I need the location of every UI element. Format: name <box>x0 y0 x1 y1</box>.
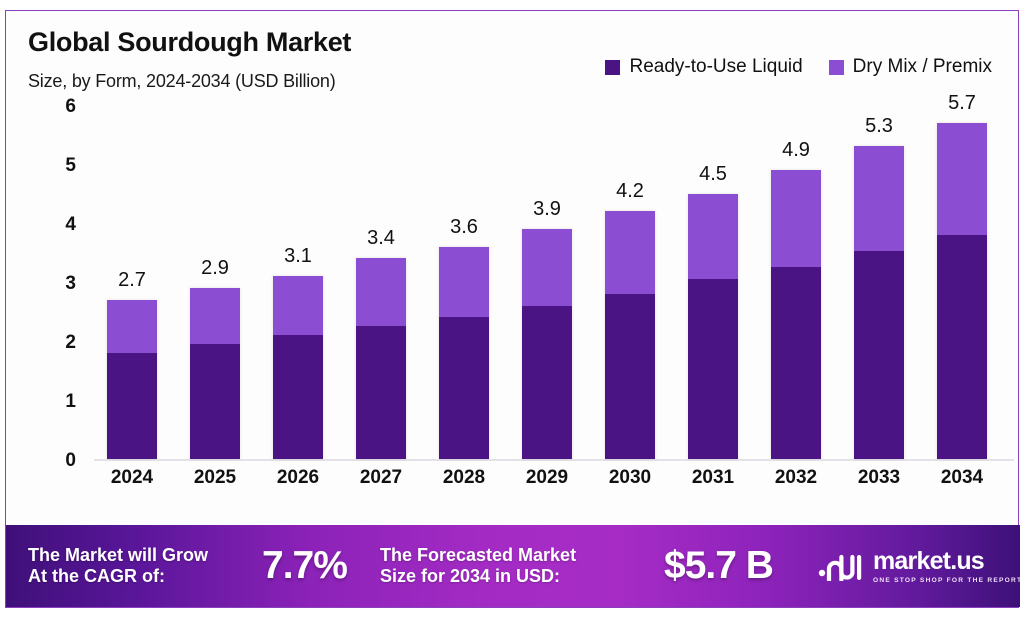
y-axis-tick: 2 <box>65 332 76 354</box>
stacked-bar[interactable] <box>688 194 738 460</box>
bar-segment-dry-mix[interactable] <box>937 123 987 235</box>
y-axis-tick: 5 <box>65 155 76 177</box>
chart-subtitle: Size, by Form, 2024-2034 (USD Billion) <box>28 71 336 92</box>
x-axis-tick: 2028 <box>424 467 504 489</box>
bar-group[interactable]: 5.3 <box>854 146 904 459</box>
y-axis: 0123456 <box>6 107 94 461</box>
brand-name: market.us <box>873 549 1020 574</box>
cagr-label: The Market will Grow At the CAGR of: <box>28 545 208 587</box>
y-axis-tick: 1 <box>65 391 76 413</box>
bar-segment-ready-to-use-liquid[interactable] <box>273 335 323 459</box>
bar-value-label: 4.5 <box>673 163 753 186</box>
stacked-bar[interactable] <box>107 300 157 459</box>
bar-group[interactable]: 5.7 <box>937 123 987 459</box>
bar-segment-dry-mix[interactable] <box>190 288 240 344</box>
bar-value-label: 5.7 <box>922 92 1002 115</box>
footer-banner: The Market will Grow At the CAGR of: 7.7… <box>6 525 1020 607</box>
bar-segment-ready-to-use-liquid[interactable] <box>854 251 904 459</box>
bar-segment-dry-mix[interactable] <box>605 211 655 294</box>
x-axis-tick: 2033 <box>839 467 919 489</box>
bar-segment-dry-mix[interactable] <box>522 229 572 306</box>
brand-logo[interactable]: market.us ONE STOP SHOP FOR THE REPORTS <box>818 549 1020 584</box>
bar-segment-ready-to-use-liquid[interactable] <box>688 279 738 459</box>
bar-group[interactable]: 2.7 <box>107 300 157 459</box>
y-axis-tick: 4 <box>65 214 76 236</box>
bar-group[interactable]: 3.1 <box>273 276 323 459</box>
x-axis-tick: 2034 <box>922 467 1002 489</box>
bar-segment-dry-mix[interactable] <box>107 300 157 353</box>
brand-tagline: ONE STOP SHOP FOR THE REPORTS <box>873 577 1020 584</box>
chart-legend: Ready-to-Use LiquidDry Mix / Premix <box>605 56 992 78</box>
stacked-bar[interactable] <box>771 170 821 459</box>
bar-group[interactable]: 3.4 <box>356 258 406 459</box>
legend-swatch-icon <box>605 60 620 75</box>
x-axis: 2024202520262027202820292030203120322033… <box>94 467 1014 507</box>
x-axis-tick: 2024 <box>92 467 172 489</box>
y-axis-tick: 0 <box>65 450 76 472</box>
forecast-label-line2: Size for 2034 in USD: <box>380 566 576 587</box>
stacked-bar[interactable] <box>605 211 655 459</box>
legend-item[interactable]: Dry Mix / Premix <box>829 56 992 78</box>
bar-value-label: 5.3 <box>839 115 919 138</box>
bar-value-label: 3.1 <box>258 245 338 268</box>
bar-segment-dry-mix[interactable] <box>439 247 489 318</box>
cagr-label-line1: The Market will Grow <box>28 545 208 566</box>
infographic-canvas: Global Sourdough Market Size, by Form, 2… <box>0 0 1024 621</box>
bar-segment-ready-to-use-liquid[interactable] <box>771 267 821 459</box>
bar-segment-dry-mix[interactable] <box>854 146 904 250</box>
legend-swatch-icon <box>829 60 844 75</box>
legend-label: Ready-to-Use Liquid <box>629 56 802 78</box>
bar-segment-dry-mix[interactable] <box>356 258 406 326</box>
bar-segment-dry-mix[interactable] <box>771 170 821 267</box>
legend-item[interactable]: Ready-to-Use Liquid <box>605 56 802 78</box>
stacked-bar[interactable] <box>190 288 240 459</box>
stacked-bar[interactable] <box>439 247 489 459</box>
x-axis-tick: 2027 <box>341 467 421 489</box>
stacked-bar[interactable] <box>356 258 406 459</box>
y-axis-tick: 6 <box>65 96 76 118</box>
x-axis-tick: 2025 <box>175 467 255 489</box>
legend-label: Dry Mix / Premix <box>853 56 992 78</box>
bar-group[interactable]: 2.9 <box>190 288 240 459</box>
plot-area: 2.72.93.13.43.63.94.24.54.95.35.7 <box>94 107 1014 461</box>
page-title: Global Sourdough Market <box>28 27 351 58</box>
bar-group[interactable]: 3.9 <box>522 229 572 459</box>
bar-segment-ready-to-use-liquid[interactable] <box>107 353 157 459</box>
bar-segment-ready-to-use-liquid[interactable] <box>605 294 655 459</box>
stacked-bar[interactable] <box>854 146 904 459</box>
x-axis-tick: 2032 <box>756 467 836 489</box>
forecast-label: The Forecasted Market Size for 2034 in U… <box>380 545 576 587</box>
bar-segment-ready-to-use-liquid[interactable] <box>522 306 572 459</box>
cagr-label-line2: At the CAGR of: <box>28 566 208 587</box>
bar-segment-ready-to-use-liquid[interactable] <box>190 344 240 459</box>
chart-plot: 0123456 2.72.93.13.43.63.94.24.54.95.35.… <box>6 107 1020 527</box>
forecast-value: $5.7 B <box>664 544 773 588</box>
cagr-value: 7.7% <box>262 544 347 588</box>
bar-value-label: 2.7 <box>92 269 172 292</box>
stacked-bar[interactable] <box>937 123 987 459</box>
bar-segment-ready-to-use-liquid[interactable] <box>439 317 489 459</box>
bar-group[interactable]: 4.5 <box>688 194 738 460</box>
x-axis-tick: 2030 <box>590 467 670 489</box>
bar-group[interactable]: 4.9 <box>771 170 821 459</box>
bar-segment-ready-to-use-liquid[interactable] <box>356 326 406 459</box>
x-axis-tick: 2031 <box>673 467 753 489</box>
x-axis-tick: 2029 <box>507 467 587 489</box>
x-axis-tick: 2026 <box>258 467 338 489</box>
bar-value-label: 3.4 <box>341 227 421 250</box>
bar-value-label: 3.9 <box>507 198 587 221</box>
bar-segment-ready-to-use-liquid[interactable] <box>937 235 987 459</box>
forecast-label-line1: The Forecasted Market <box>380 545 576 566</box>
chart-header: Global Sourdough Market Size, by Form, 2… <box>6 11 1020 107</box>
stacked-bar[interactable] <box>273 276 323 459</box>
bar-value-label: 3.6 <box>424 216 504 239</box>
market-us-logo-icon <box>818 551 864 581</box>
bar-value-label: 4.9 <box>756 139 836 162</box>
stacked-bar[interactable] <box>522 229 572 459</box>
infographic-frame: Global Sourdough Market Size, by Form, 2… <box>5 10 1019 608</box>
bar-value-label: 4.2 <box>590 180 670 203</box>
brand-text: market.us ONE STOP SHOP FOR THE REPORTS <box>873 549 1020 584</box>
y-axis-tick: 3 <box>65 273 76 295</box>
bar-group[interactable]: 3.6 <box>439 247 489 459</box>
bar-value-label: 2.9 <box>175 257 255 280</box>
bar-segment-dry-mix[interactable] <box>273 276 323 335</box>
bar-group[interactable]: 4.2 <box>605 211 655 459</box>
bar-segment-dry-mix[interactable] <box>688 194 738 280</box>
